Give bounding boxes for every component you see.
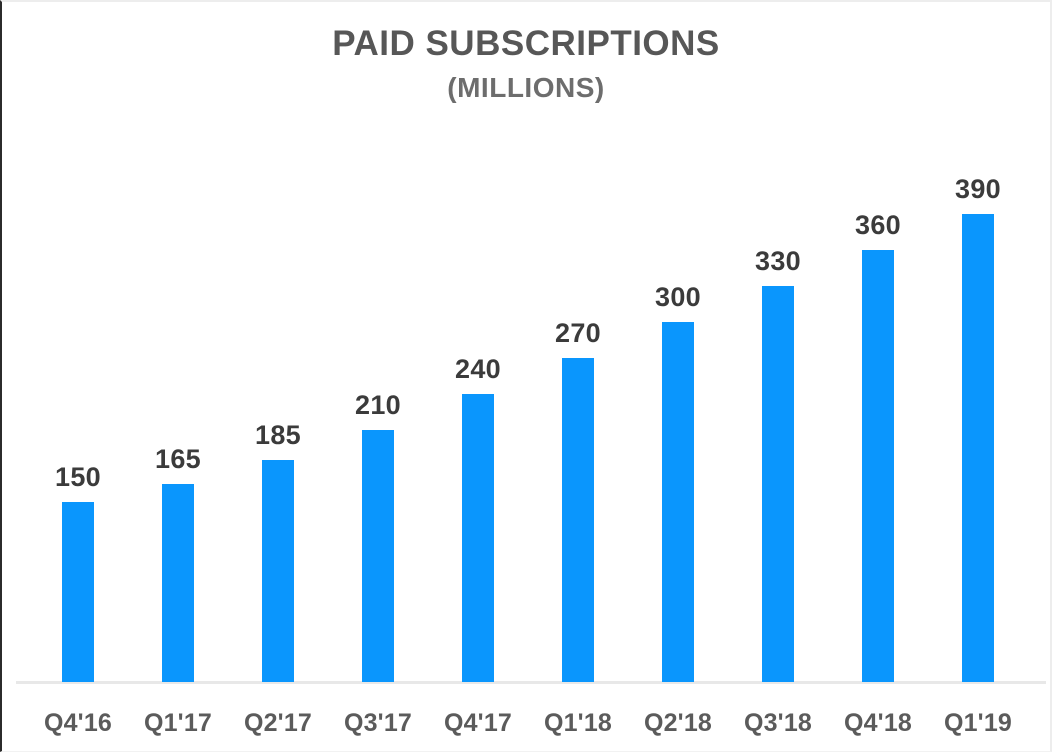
x-axis-label: Q3'17 <box>328 709 428 738</box>
x-axis-label: Q2'17 <box>228 709 328 738</box>
x-axis-label: Q3'18 <box>728 709 828 738</box>
bar[interactable] <box>362 430 394 682</box>
bar-group[interactable]: 390 <box>928 122 1028 682</box>
x-axis-label: Q1'18 <box>528 709 628 738</box>
bar-value-label: 300 <box>655 282 701 313</box>
bar[interactable] <box>962 214 994 682</box>
x-axis-label: Q4'17 <box>428 709 528 738</box>
bar-value-label: 210 <box>355 390 401 421</box>
x-axis-label: Q1'19 <box>928 709 1028 738</box>
bar[interactable] <box>662 322 694 682</box>
bar[interactable] <box>262 460 294 682</box>
bar-group[interactable]: 150 <box>28 122 128 682</box>
x-axis-label: Q4'18 <box>828 709 928 738</box>
bar-value-label: 360 <box>855 210 901 241</box>
bar[interactable] <box>462 394 494 682</box>
bar-group[interactable]: 330 <box>728 122 828 682</box>
x-axis-label: Q4'16 <box>28 709 128 738</box>
bar[interactable] <box>162 484 194 682</box>
bar-value-label: 240 <box>455 354 501 385</box>
plot-area: 150Q4'16165Q1'17185Q2'17210Q3'17240Q4'17… <box>2 2 1052 752</box>
chart-container: PAID SUBSCRIPTIONS (MILLIONS) 150Q4'1616… <box>0 0 1052 752</box>
bar-group[interactable]: 210 <box>328 122 428 682</box>
bar[interactable] <box>562 358 594 682</box>
x-axis-label: Q2'18 <box>628 709 728 738</box>
bar-group[interactable]: 165 <box>128 122 228 682</box>
bar[interactable] <box>762 286 794 682</box>
bar-group[interactable]: 300 <box>628 122 728 682</box>
bar-value-label: 185 <box>255 420 301 451</box>
bar-value-label: 330 <box>755 246 801 277</box>
bar[interactable] <box>862 250 894 682</box>
bar-group[interactable]: 360 <box>828 122 928 682</box>
bar-group[interactable]: 270 <box>528 122 628 682</box>
bar-value-label: 270 <box>555 318 601 349</box>
bar[interactable] <box>62 502 94 682</box>
x-axis-label: Q1'17 <box>128 709 228 738</box>
bar-group[interactable]: 185 <box>228 122 328 682</box>
bar-value-label: 165 <box>155 444 201 475</box>
bar-group[interactable]: 240 <box>428 122 528 682</box>
bar-value-label: 150 <box>55 462 101 493</box>
bar-value-label: 390 <box>955 174 1001 205</box>
